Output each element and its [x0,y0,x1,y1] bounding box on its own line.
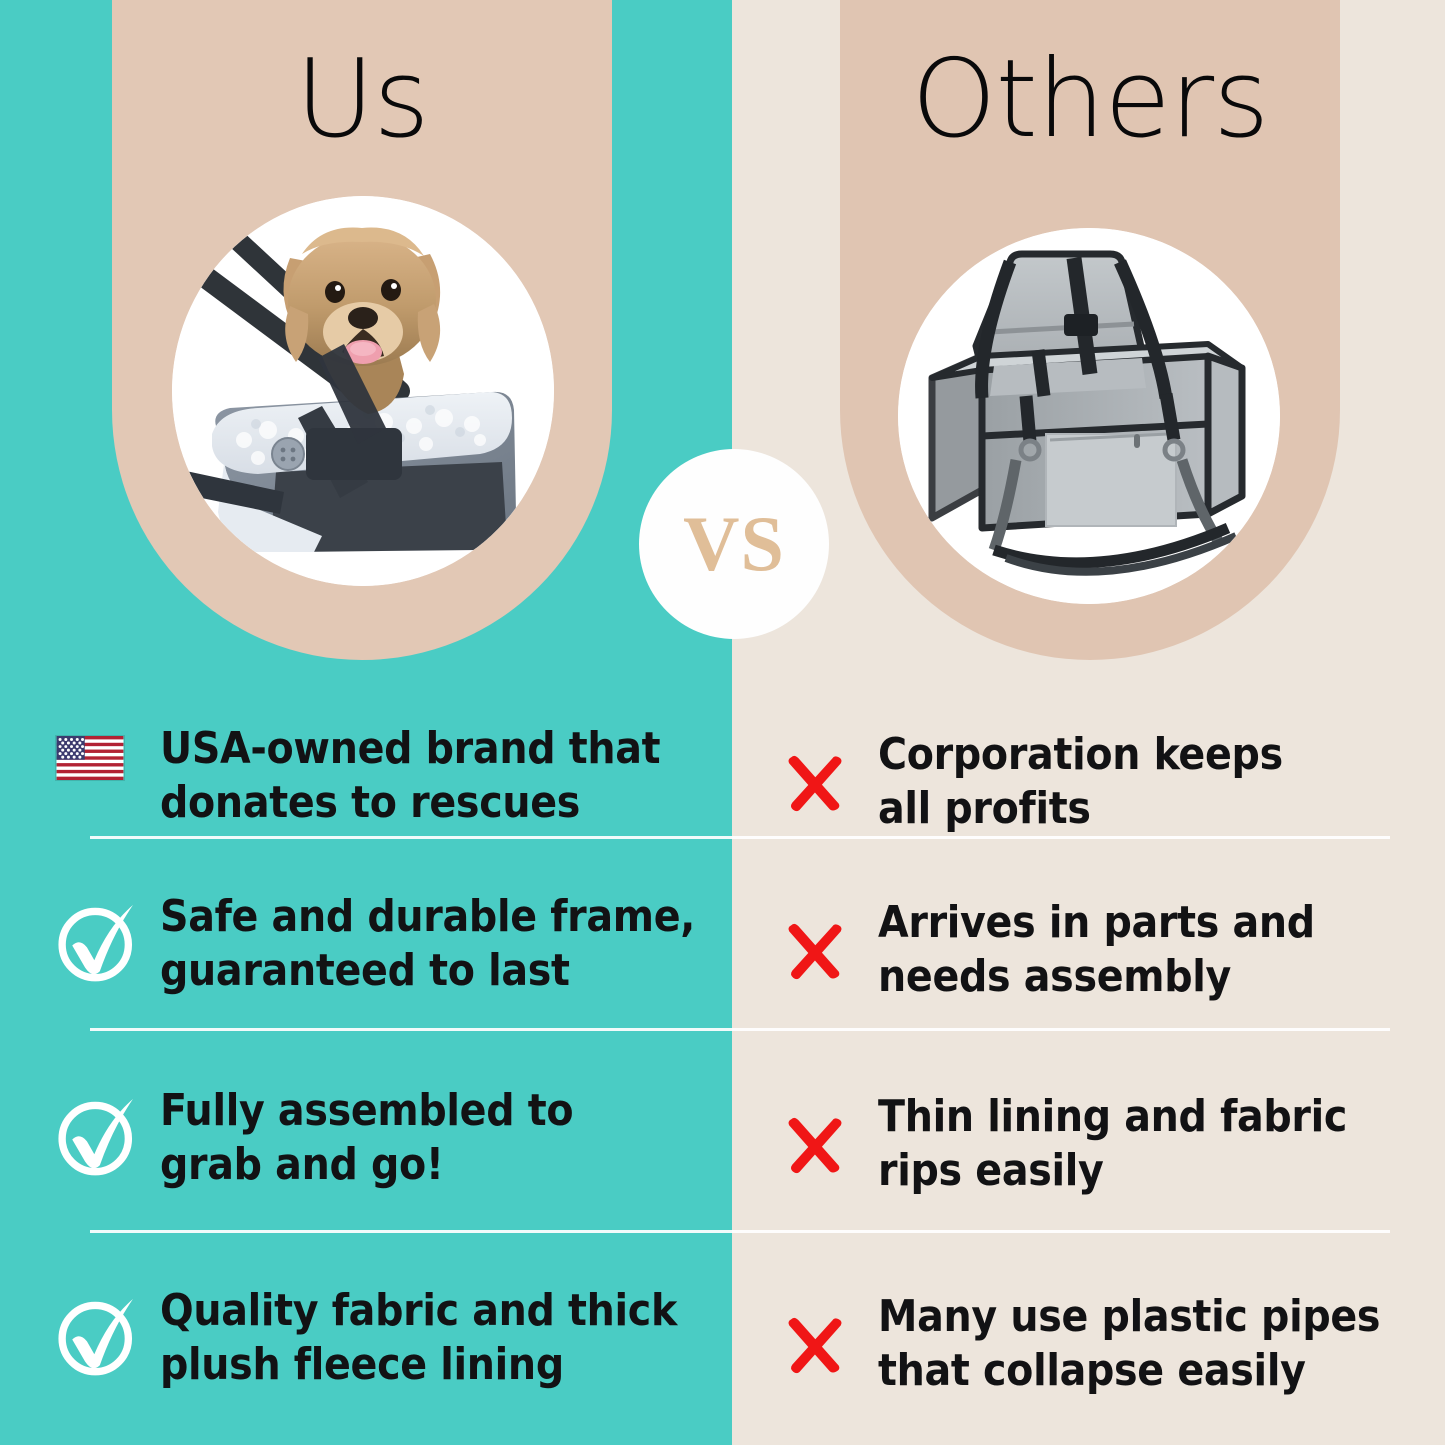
dog-in-carrier-illustration [172,196,554,586]
con-cell: Many use plastic pipes that collapse eas… [732,1250,1445,1445]
feature-line: plush fleece lining [160,1338,677,1392]
comparison-row: USA-owned brand that donates to rescues … [0,688,1445,884]
feature-line: Corporation keeps [878,728,1283,782]
feature-line: Fully assembled to [160,1084,573,1138]
feature-line: Thin lining and fabric [878,1090,1347,1144]
vs-label: VS [683,505,785,583]
pro-feature-text: Quality fabric and thick plush fleece li… [160,1284,677,1391]
row-divider [90,1230,1390,1233]
pro-cell: USA-owned brand that donates to rescues [0,688,732,884]
feature-line: grab and go! [160,1138,573,1192]
con-cell: Arrives in parts and needs assembly [732,856,1445,1052]
row-divider [90,1028,1390,1031]
con-cell: Thin lining and fabric rips easily [732,1050,1445,1246]
feature-line: needs assembly [878,950,1315,1004]
comparison-rows: USA-owned brand that donates to rescues … [0,660,1445,1445]
con-feature-text: Corporation keeps all profits [878,728,1283,835]
comparison-row: Quality fabric and thick plush fleece li… [0,1250,1445,1445]
feature-line: Arrives in parts and [878,896,1315,950]
red-x-icon [782,728,878,816]
left-column-title: Us [112,42,612,159]
feature-line: Safe and durable frame, [160,890,695,944]
feature-line: Many use plastic pipes [878,1290,1380,1344]
booster-seat-illustration [898,228,1280,604]
left-product-image [172,196,554,586]
con-feature-text: Arrives in parts and needs assembly [878,896,1315,1003]
comparison-infographic: Us Others [0,0,1445,1445]
red-x-icon [782,896,878,984]
pro-cell: Fully assembled to grab and go! [0,1050,732,1246]
pro-cell: Safe and durable frame, guaranteed to la… [0,856,732,1052]
pro-feature-text: USA-owned brand that donates to rescues [160,722,660,829]
right-column-title: Others [840,42,1340,159]
feature-line: all profits [878,782,1283,836]
check-circle-icon [56,1284,160,1380]
red-x-icon [782,1290,878,1378]
feature-line: guaranteed to last [160,944,695,998]
con-feature-text: Thin lining and fabric rips easily [878,1090,1347,1197]
right-product-image [898,228,1280,604]
comparison-row: Fully assembled to grab and go! Thin lin… [0,1050,1445,1246]
feature-line: rips easily [878,1144,1347,1198]
pro-feature-text: Safe and durable frame, guaranteed to la… [160,890,695,997]
row-divider [90,836,1390,839]
feature-line: USA-owned brand that [160,722,660,776]
check-circle-icon [56,1084,160,1180]
check-circle-icon [56,890,160,986]
feature-line: that collapse easily [878,1344,1380,1398]
vs-badge: VS [639,449,829,639]
pro-cell: Quality fabric and thick plush fleece li… [0,1250,732,1445]
red-x-icon [782,1090,878,1178]
con-feature-text: Many use plastic pipes that collapse eas… [878,1290,1380,1397]
comparison-row: Safe and durable frame, guaranteed to la… [0,856,1445,1052]
pro-feature-text: Fully assembled to grab and go! [160,1084,573,1191]
feature-line: Quality fabric and thick [160,1284,677,1338]
con-cell: Corporation keeps all profits [732,688,1445,884]
feature-line: donates to rescues [160,776,660,830]
us-flag-icon [56,722,160,780]
